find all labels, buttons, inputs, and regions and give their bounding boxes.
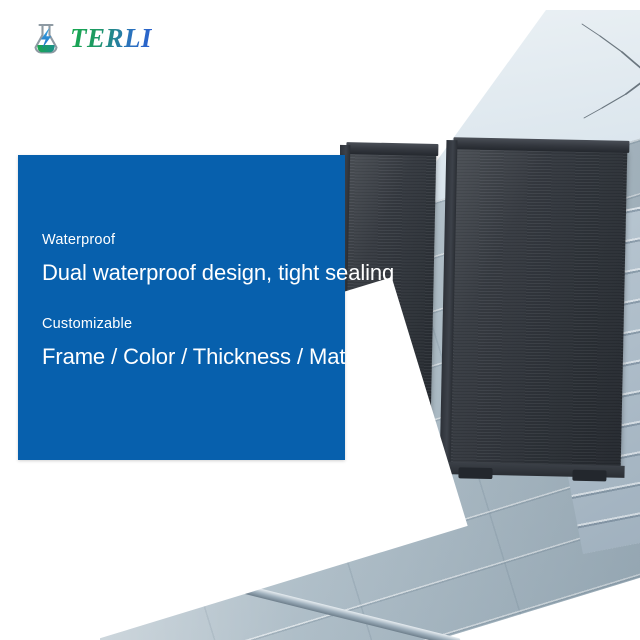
feature-block-customizable: Customizable Frame / Color / Thickness /… bbox=[42, 317, 323, 369]
product-banner: Waterproof Dual waterproof design, tight… bbox=[0, 0, 640, 640]
solar-panel-right bbox=[449, 146, 628, 468]
feature-block-waterproof: Waterproof Dual waterproof design, tight… bbox=[42, 233, 323, 285]
panel-glare bbox=[449, 146, 628, 468]
feature-headline: Dual waterproof design, tight sealing bbox=[42, 260, 323, 285]
feature-callout-panel: Waterproof Dual waterproof design, tight… bbox=[18, 155, 345, 460]
brand-wordmark: TERLI bbox=[70, 25, 152, 52]
flask-lightning-icon bbox=[26, 18, 66, 58]
panel-clamp bbox=[572, 470, 606, 482]
brand-logo: TERLI bbox=[26, 18, 152, 58]
callout-content: Waterproof Dual waterproof design, tight… bbox=[30, 155, 331, 460]
feature-label: Customizable bbox=[42, 317, 323, 333]
panel-top-rail bbox=[346, 142, 438, 156]
feature-headline: Frame / Color / Thickness / Material bbox=[42, 344, 323, 369]
panel-clamp bbox=[458, 467, 492, 479]
feature-label: Waterproof bbox=[42, 233, 323, 249]
